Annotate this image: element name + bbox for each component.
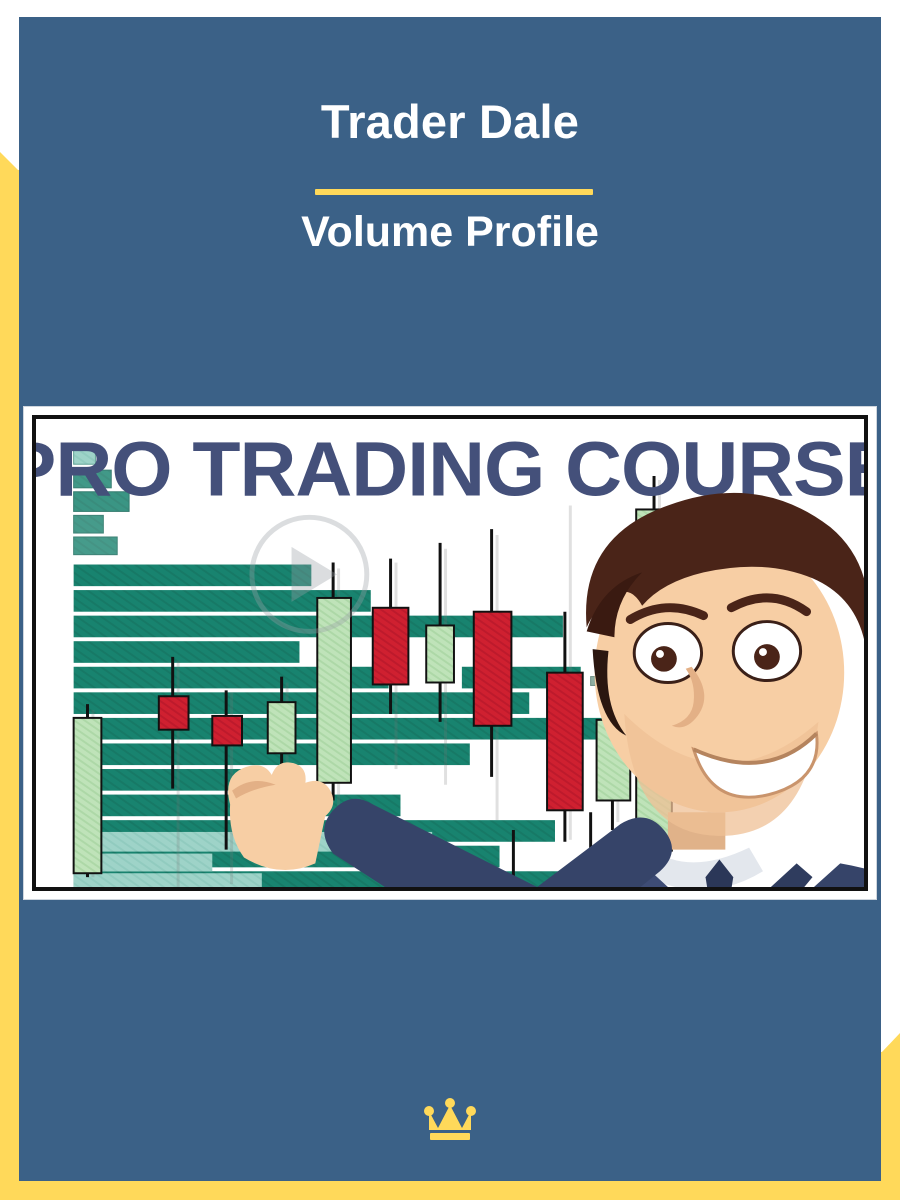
course-cover-illustration: PRO TRADING COURSE <box>36 419 864 887</box>
accent-ribbon-right <box>881 1052 900 1182</box>
accent-ribbon-bottom <box>0 1181 900 1200</box>
card-header: Trader Dale Volume Profile <box>19 17 881 400</box>
thumbnail-inner-frame: PRO TRADING COURSE <box>32 415 868 891</box>
crown-icon <box>424 1098 476 1140</box>
accent-ribbon-left-corner <box>0 152 20 172</box>
accent-ribbon-left <box>0 170 19 1200</box>
title-divider <box>315 189 593 195</box>
page-title: Volume Profile <box>19 211 881 254</box>
brand-title: Trader Dale <box>19 98 881 145</box>
chart-title-text: Volume Profile with candlesticks <box>0 0 1 1</box>
product-thumbnail[interactable]: PRO TRADING COURSE <box>24 407 876 899</box>
accent-ribbon-right-corner <box>881 1033 900 1053</box>
thumbnail-headline-text: PRO TRADING COURSE <box>0 0 1 1</box>
poster-canvas: Trader Dale Volume Profile <box>0 0 900 1200</box>
